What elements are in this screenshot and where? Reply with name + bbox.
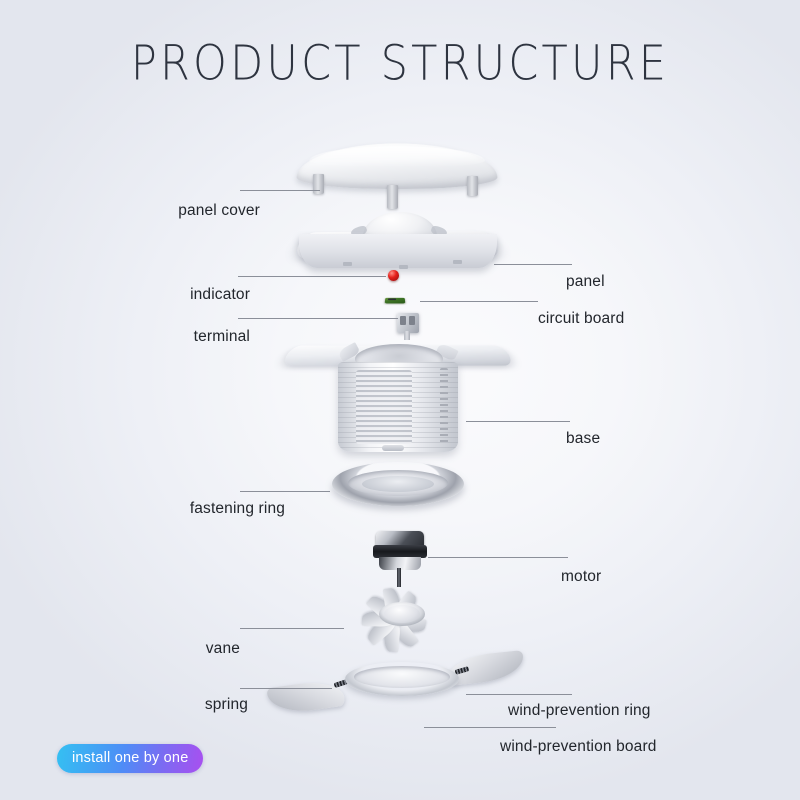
part-motor <box>371 531 429 577</box>
page-title: PRODUCT STRUCTURE <box>0 36 800 92</box>
panel-cover-leg-right <box>467 176 478 196</box>
leader-line-indicator <box>238 276 386 277</box>
base-cylinder <box>338 362 458 452</box>
label-motor: motor <box>561 568 601 586</box>
part-circuit-board <box>385 298 406 304</box>
leader-line-wind-prevention-board <box>424 727 556 728</box>
label-wind-prevention-board: wind-prevention board <box>500 738 657 756</box>
label-panel: panel <box>566 273 605 291</box>
product-structure-diagram: PRODUCT STRUCTURE <box>0 0 800 800</box>
leader-line-vane <box>240 628 344 629</box>
part-indicator <box>388 270 399 281</box>
leader-line-panel-cover <box>240 190 320 191</box>
leader-line-motor <box>428 557 568 558</box>
leader-line-base <box>466 421 570 422</box>
panel-notch-2 <box>399 265 408 269</box>
part-base <box>287 332 509 457</box>
label-fastening-ring: fastening ring <box>40 500 285 518</box>
leader-line-terminal <box>238 318 398 319</box>
leader-line-wind-prevention-ring <box>466 694 572 695</box>
vane-hub-inner <box>384 605 420 623</box>
leader-line-spring <box>240 688 332 689</box>
panel-notch-3 <box>453 260 462 264</box>
panel-rim <box>299 234 497 268</box>
label-panel-cover: panel cover <box>60 202 260 220</box>
part-fastening-ring <box>332 462 464 506</box>
label-spring: spring <box>60 696 248 714</box>
base-tab <box>382 445 404 451</box>
panel-cover-leg-center <box>387 185 398 209</box>
label-circuit-board: circuit board <box>538 310 624 328</box>
label-terminal: terminal <box>60 328 250 346</box>
label-vane: vane <box>60 640 240 658</box>
part-panel-cover <box>297 143 497 205</box>
part-terminal <box>397 313 419 333</box>
install-badge[interactable]: install one by one <box>57 744 203 773</box>
leader-line-fastening-ring <box>240 491 330 492</box>
panel-cover-leg-left <box>313 174 324 194</box>
part-wind-prevention-ring <box>345 662 459 696</box>
part-vane <box>346 595 456 647</box>
panel-notch-1 <box>343 262 352 266</box>
leader-line-circuit-board <box>420 301 538 302</box>
label-wind-prevention-ring: wind-prevention ring <box>508 702 651 720</box>
motor-shaft <box>397 568 401 587</box>
label-base: base <box>566 430 600 448</box>
leader-line-panel <box>494 264 572 265</box>
label-indicator: indicator <box>60 286 250 304</box>
